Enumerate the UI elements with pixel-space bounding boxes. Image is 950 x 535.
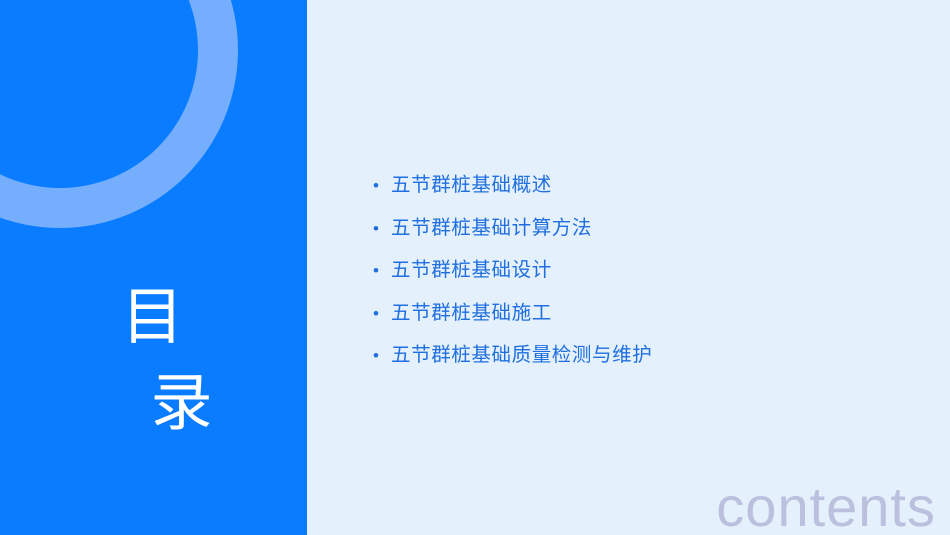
content-area: • 五节群桩基础概述 • 五节群桩基础计算方法 • 五节群桩基础设计 • 五节群…: [307, 0, 950, 535]
list-item[interactable]: • 五节群桩基础计算方法: [373, 211, 652, 254]
bullet-icon: •: [373, 220, 391, 237]
list-item[interactable]: • 五节群桩基础概述: [373, 168, 652, 211]
toc-item-label: 五节群桩基础施工: [391, 296, 552, 325]
list-item[interactable]: • 五节群桩基础设计: [373, 253, 652, 296]
contents-watermark: contents: [716, 474, 936, 535]
slide: 目 录 • 五节群桩基础概述 • 五节群桩基础计算方法 • 五节群桩基础设计 •…: [0, 0, 950, 535]
slide-title: 目 录: [0, 275, 307, 447]
bullet-icon: •: [373, 177, 391, 194]
bullet-icon: •: [373, 262, 391, 279]
bullet-icon: •: [373, 347, 391, 364]
left-blue-panel: 目 录: [0, 0, 307, 535]
toc-item-label: 五节群桩基础设计: [391, 253, 552, 282]
table-of-contents: • 五节群桩基础概述 • 五节群桩基础计算方法 • 五节群桩基础设计 • 五节群…: [373, 168, 652, 381]
list-item[interactable]: • 五节群桩基础施工: [373, 296, 652, 339]
bullet-icon: •: [373, 305, 391, 322]
toc-item-label: 五节群桩基础计算方法: [391, 211, 592, 240]
list-item[interactable]: • 五节群桩基础质量检测与维护: [373, 338, 652, 381]
slide-title-line-1: 目: [0, 275, 307, 361]
slide-title-line-2: 录: [0, 361, 307, 447]
toc-item-label: 五节群桩基础概述: [391, 168, 552, 197]
toc-item-label: 五节群桩基础质量检测与维护: [391, 338, 652, 367]
